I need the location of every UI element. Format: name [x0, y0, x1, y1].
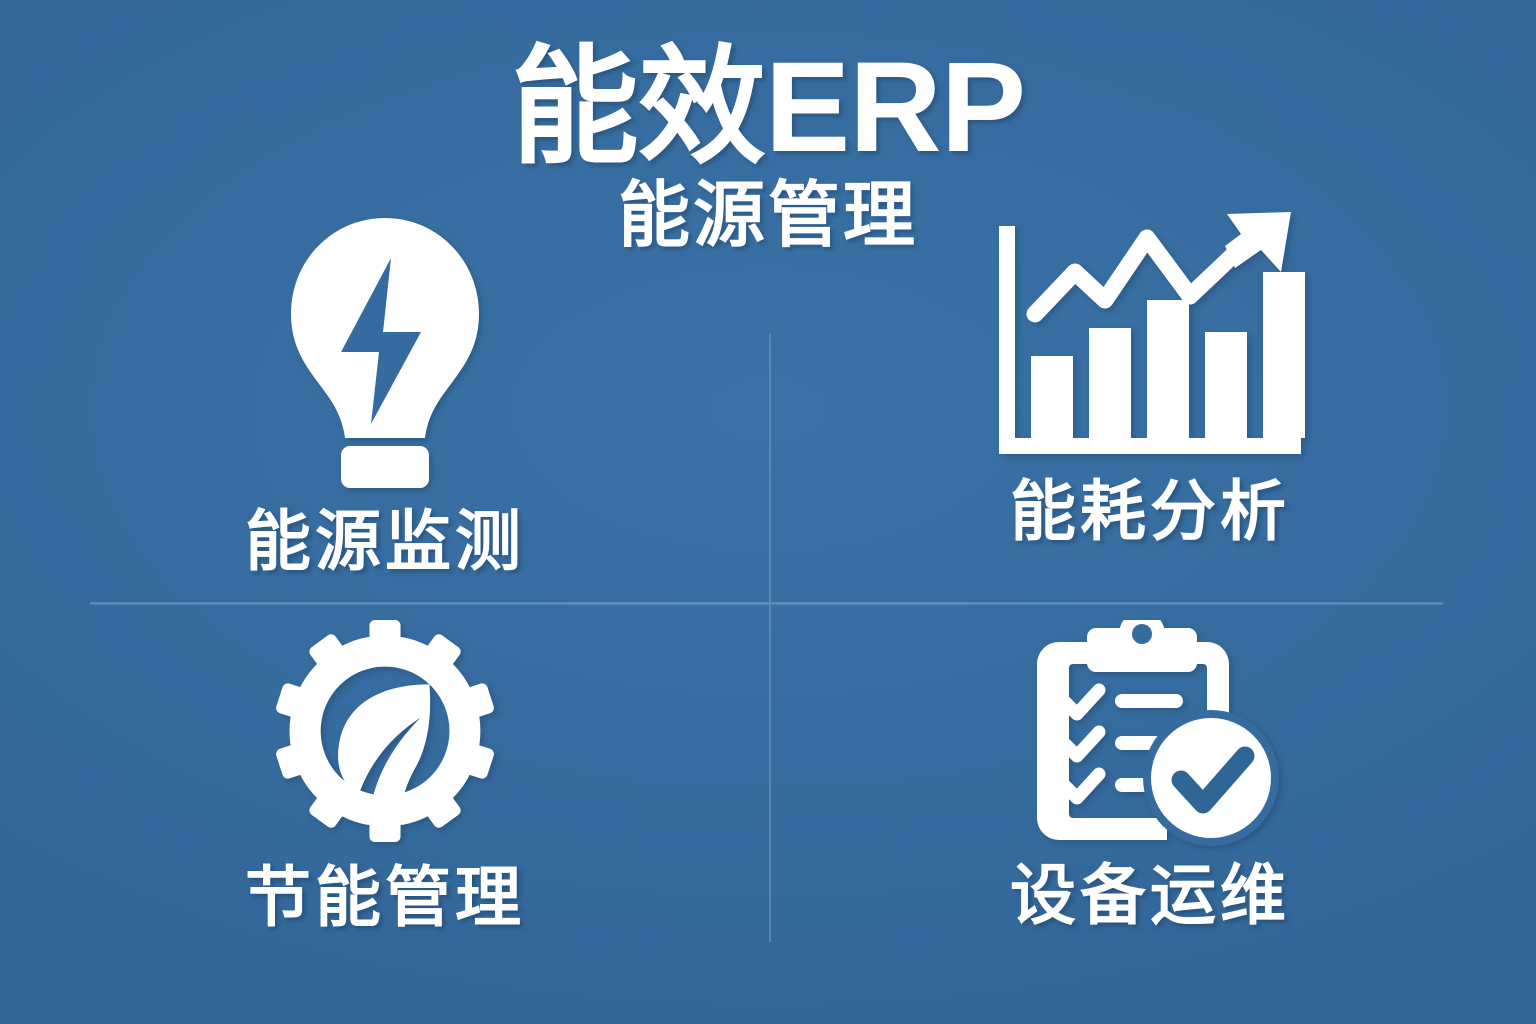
vertical-divider: [769, 334, 771, 942]
clipboard-checklist-check-icon: [1015, 620, 1285, 846]
quadrant-label-energy-saving-management: 节能管理: [245, 864, 525, 930]
quadrant-label-equipment-operations: 设备运维: [1010, 862, 1290, 928]
quadrant-label-energy-monitoring: 能源监测: [245, 508, 525, 574]
bar-chart-trend-up-icon: [985, 210, 1315, 472]
quadrant-energy-monitoring[interactable]: 能源监测: [150, 210, 620, 574]
quadrant-energy-saving-management[interactable]: 节能管理: [150, 620, 620, 930]
poster-canvas: 能效ERP 能源管理 能源监测: [0, 0, 1536, 1024]
gear-leaf-icon: [274, 620, 496, 842]
horizontal-divider: [90, 602, 1443, 605]
page-title: 能效ERP: [0, 40, 1536, 176]
lightbulb-bolt-icon: [275, 210, 495, 490]
quadrant-clipboard-checklist[interactable]: 设备运维: [915, 620, 1385, 928]
quadrant-consumption-analysis[interactable]: 能耗分析: [915, 210, 1385, 544]
quadrant-label-consumption-analysis: 能耗分析: [1010, 478, 1290, 544]
